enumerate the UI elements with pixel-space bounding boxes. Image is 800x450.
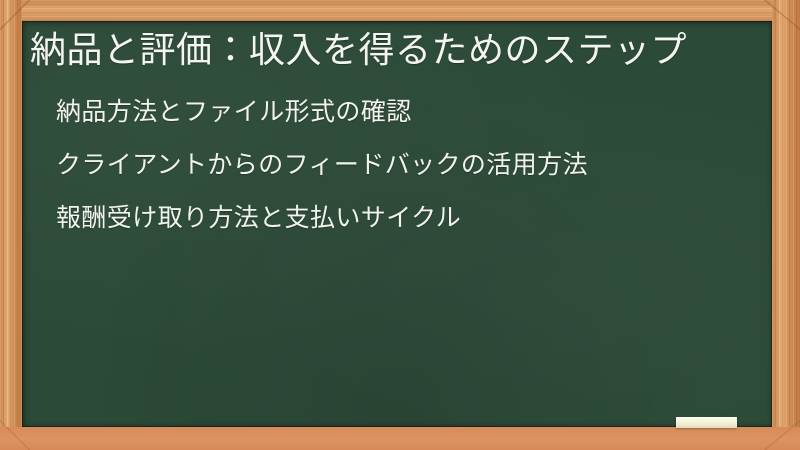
bullet-list-wrapper: 納品方法とファイル形式の確認 クライアントからのフィードバックの活用方法 報酬受… [30, 100, 750, 231]
board-content: 納品と評価：収入を得るためのステップ 納品方法とファイル形式の確認 クライアント… [22, 21, 772, 427]
chalkboard-surface: 納品と評価：収入を得るためのステップ 納品方法とファイル形式の確認 クライアント… [22, 21, 772, 427]
list-item: 納品方法とファイル形式の確認 [30, 100, 750, 125]
chalk-stick-icon [676, 417, 737, 428]
bullet-list: 納品方法とファイル形式の確認 クライアントからのフィードバックの活用方法 報酬受… [30, 100, 750, 231]
slide-title: 納品と評価：収入を得るためのステップ [30, 21, 720, 73]
chalkboard-slide: 納品と評価：収入を得るためのステップ 納品方法とファイル形式の確認 クライアント… [0, 0, 800, 450]
frame-right-rail [772, 0, 800, 450]
list-item: 報酬受け取り方法と支払いサイクル [30, 206, 750, 231]
frame-top-rail [0, 0, 800, 21]
frame-bottom-ledge [0, 427, 800, 450]
frame-left-rail [0, 0, 22, 450]
list-item: クライアントからのフィードバックの活用方法 [30, 153, 750, 178]
